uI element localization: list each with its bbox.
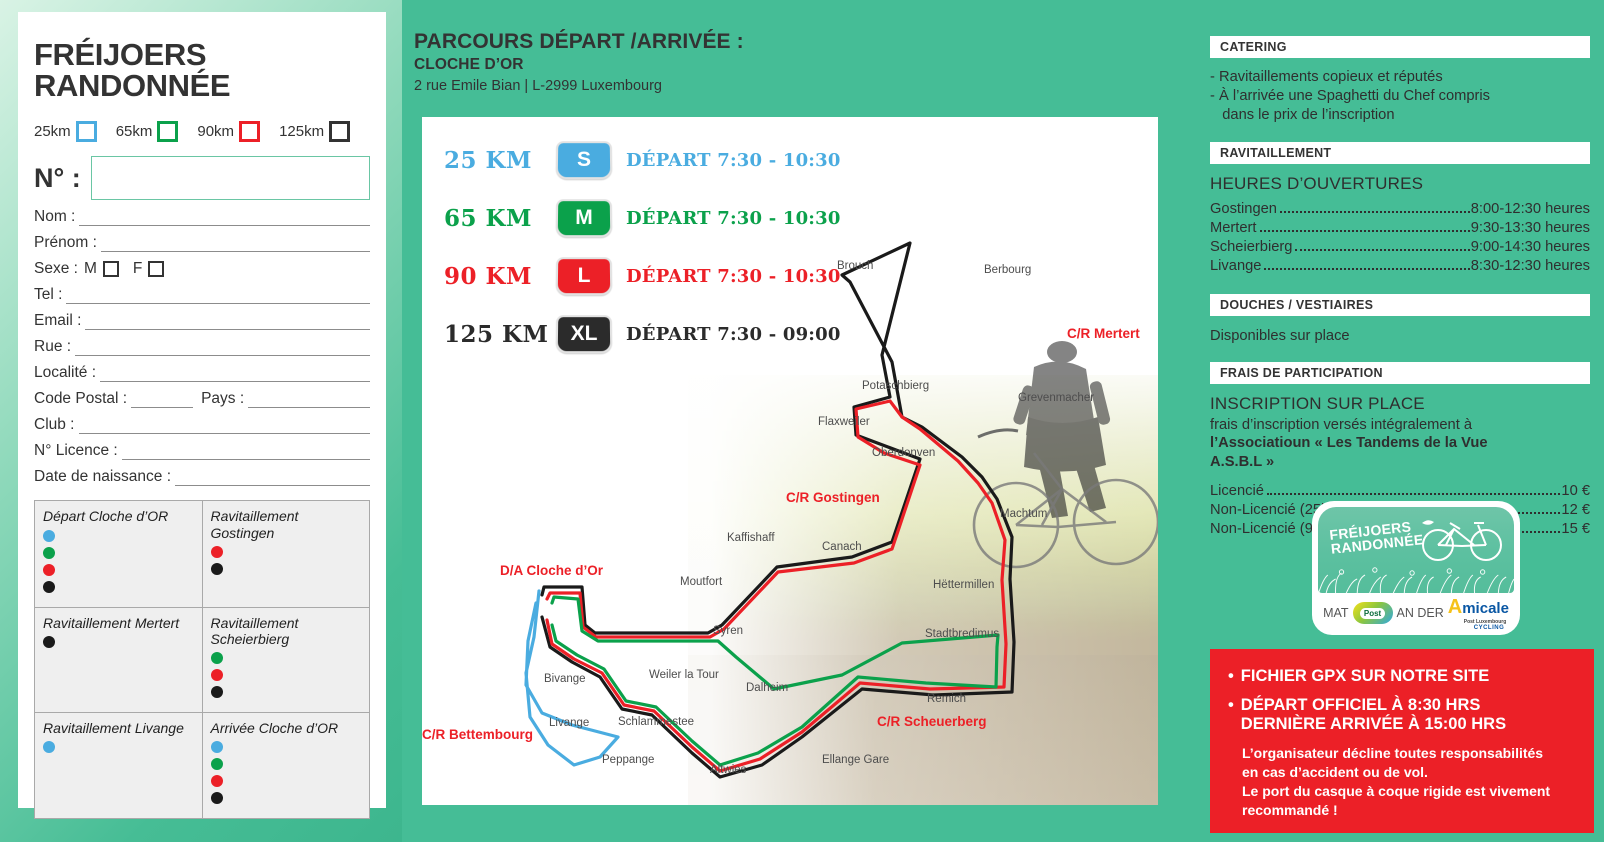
distance-checkbox-90km[interactable] [239,121,260,142]
dot-blue [211,741,223,753]
field-label-club: Club : [34,416,75,434]
field-rule-date-naissance[interactable] [175,472,370,486]
section-heading-ravitaillement: RAVITAILLEMENT [1210,142,1590,164]
field-rule-club[interactable] [79,420,371,434]
event-logo-badge: FRÉIJOERS RANDONNÉE [1312,501,1520,635]
brand-title: FRÉIJOERS RANDONNÉE [34,40,370,101]
legend-badge-l: L [556,257,613,295]
ravitaillement-subheading: HEURES D’OUVERTURES [1200,174,1604,194]
checkpoint-cell-ravitaillement-gostingen: Ravitaillement Gostingen [202,501,370,607]
ravitaillement-hours-scheierbierg: 9:00-14:30 heures [1471,238,1590,257]
catering-item-3: dans le prix de l’inscription [1210,106,1590,125]
field-label-email: Email : [34,312,81,330]
dot-black [211,686,223,698]
distance-checkbox-65km[interactable] [157,121,178,142]
distance-legend: 25 KM S DÉPART 7:30 - 10:30 65 KM M DÉPA… [444,139,841,371]
logo-partners-row: MAT Post AN DER Amicale Post Luxembourg … [1318,593,1514,633]
legend-km-90km: 90 KM [444,263,556,290]
field-rue[interactable]: Rue : [34,338,370,356]
legend-row-25km: 25 KM S DÉPART 7:30 - 10:30 [444,139,841,181]
page-title: PARCOURS DÉPART /ARRIVÉE : [414,30,1200,54]
control-point-label-bettembourg: C/R Bettembourg [422,727,533,742]
checkpoint-title: Ravitaillement Mertert [43,615,194,631]
ravitaillement-hours-list: Gostingen 8:00-12:30 heures Mertert 9:30… [1200,200,1604,275]
distance-option-125km[interactable]: 125km [279,121,350,142]
ravitaillement-name-mertert: Mertert [1210,219,1257,238]
checkpoint-cell-ravitaillement-mertert: Ravitaillement Mertert [35,607,203,712]
list-item: Livange 8:30-12:30 heures [1210,257,1590,276]
checkpoint-title: Ravitaillement Livange [43,720,194,736]
section-heading-catering: CATERING [1210,36,1590,58]
catering-item-2: - À l’arrivée une Spaghetti du Chef comp… [1210,87,1590,106]
leader-dots [1260,230,1470,232]
checkpoint-cell-ravitaillement-scheierbierg: Ravitaillement Scheierbierg [202,607,370,712]
post-logo-text: Post [1360,608,1385,619]
legend-badge-s: S [556,141,613,179]
sexe-label-male: M [84,260,97,278]
place-label-oberdonven: Oberdonven [872,447,935,459]
field-label-pays: Pays : [201,390,244,408]
frais-price-licencie: 10 € [1561,482,1590,501]
field-sexe: Sexe : M F [34,260,370,278]
route-map-card: 25 KM S DÉPART 7:30 - 10:30 65 KM M DÉPA… [422,117,1158,805]
number-row: N° : [34,156,370,200]
place-label-stadtbredimus: Stadtbredimus [925,628,999,640]
field-code-postal-pays[interactable]: Code Postal : Pays : [34,390,370,408]
distance-label-125km: 125km [279,123,324,140]
brand-title-line2: RANDONNÉE [34,71,370,102]
brand-title-line1: FRÉIJOERS [34,40,370,71]
bullet-icon: • [1228,696,1234,734]
list-item: Mertert 9:30-13:30 heures [1210,219,1590,238]
place-label-dalheim: Dalheim [746,682,788,694]
ravitaillement-hours-mertert: 9:30-13:30 heures [1471,219,1590,238]
checkpoint-dots [211,546,362,575]
field-rule-pays[interactable] [248,394,370,408]
frais-price-non-licencie-25-65: 12 € [1561,501,1590,520]
dot-blue [43,741,55,753]
amicale-subtext: Post Luxembourg [1464,619,1509,625]
logo-partner-mat: MAT [1323,606,1348,620]
list-item: Gostingen 8:00-12:30 heures [1210,200,1590,219]
checkpoint-dots [43,530,194,593]
frais-name-licencie: Licencié [1210,482,1264,501]
list-item: Scheierbierg 9:00-14:30 heures [1210,238,1590,257]
registration-panel: FRÉIJOERS RANDONNÉE 25km 65km 90km 125km [0,0,402,842]
checkpoint-dots [43,741,194,753]
field-label-rue: Rue : [34,338,71,356]
field-date-naissance[interactable]: Date de naissance : [34,468,370,486]
number-input[interactable] [91,156,370,200]
disclaimer-line2: en cas d’accident ou de vol. [1242,763,1578,782]
checkpoint-dots [43,636,194,648]
logo-inner-panel: FRÉIJOERS RANDONNÉE [1318,507,1514,593]
route-header: PARCOURS DÉPART /ARRIVÉE : CLOCHE D’OR 2… [402,0,1200,94]
venue-address: 2 rue Emile Bian | L-2999 Luxembourg [414,78,1200,94]
info-bullet-gpx: • FICHIER GPX SUR NOTRE SITE [1228,667,1578,686]
info-bullet-depart-line1: DÉPART OFFICIEL À 8:30 HRS [1241,696,1506,715]
place-label-potaschbierg: Potaschbierg [862,380,929,392]
place-label-berbourg: Berbourg [984,264,1031,276]
field-label-localite: Localité : [34,364,96,382]
place-label-ellange-gare: Ellange Gare [822,754,889,766]
control-point-label-cloche-dor: D/A Cloche d’Or [500,563,603,578]
catering-item-1: - Ravitaillements copieux et réputés [1210,68,1590,87]
table-row: Ravitaillement Livange Arrivée Cloche d’… [35,713,370,819]
legend-time-65km: DÉPART 7:30 - 10:30 [626,208,841,229]
amicale-text: micale [1462,600,1509,617]
frais-note: frais d’inscription versés intégralement… [1200,416,1604,472]
field-prenom[interactable]: Prénom : [34,234,370,252]
legend-km-25km: 25 KM [444,147,556,174]
legend-time-25km: DÉPART 7:30 - 10:30 [626,150,841,171]
checkpoint-title: Départ Cloche d’OR [43,508,194,524]
place-label-canach: Canach [822,541,862,553]
section-heading-douches: DOUCHES / VESTIAIRES [1210,294,1590,316]
place-label-weiler-la-tour: Weiler la Tour [649,669,719,681]
checkpoint-cell-depart-cloche-dor: Départ Cloche d’OR [35,501,203,607]
dot-red [43,564,55,576]
distance-checkbox-125km[interactable] [329,121,350,142]
field-label-prenom: Prénom : [34,234,97,252]
place-label-livange: Livange [549,717,589,729]
place-label-altwies: Altwies [710,764,746,776]
dot-black [43,636,55,648]
checkpoint-title: Ravitaillement Scheierbierg [211,615,362,647]
field-tel[interactable]: Tel : [34,286,370,304]
place-label-bivange: Bivange [544,673,586,685]
field-nom[interactable]: Nom : [34,208,370,226]
place-label-hettermillen: Hëttermillen [933,579,994,591]
disclaimer-note: L’organisateur décline toutes responsabi… [1242,744,1578,819]
sexe-checkbox-female[interactable] [148,261,164,277]
legend-km-65km: 65 KM [444,205,556,232]
place-label-peppange: Peppange [602,754,654,766]
field-label-code-postal: Code Postal : [34,390,127,408]
grass-icon [1318,561,1514,593]
control-point-label-gostingen: C/R Gostingen [786,490,880,505]
legend-time-125km: DÉPART 7:30 - 09:00 [626,324,841,345]
checkpoint-cell-arrivee-cloche-dor: Arrivée Cloche d’OR [202,713,370,819]
field-rule-prenom[interactable] [101,238,370,252]
place-label-schlammestee: Schlammestee [618,716,694,728]
douches-text: Disponibles sur place [1200,327,1604,346]
logo-partner-ander: AN DER [1397,606,1444,620]
place-label-flaxweiler: Flaxweiler [818,416,870,428]
control-point-label-scheuerberg: C/R Scheuerberg [877,714,987,729]
field-rule-code-postal[interactable] [131,394,193,408]
place-label-grevenmacher: Grevenmacher [1018,392,1094,404]
frais-note-line2: l’Associatioun « Les Tandems de la Vue [1210,434,1590,453]
field-localite[interactable]: Localité : [34,364,370,382]
field-rule-tel[interactable] [66,290,370,304]
checkpoint-dots [211,741,362,804]
legend-badge-xl: XL [556,315,613,353]
legend-time-90km: DÉPART 7:30 - 10:30 [626,266,841,287]
table-row: Ravitaillement Mertert Ravitaillement Sc… [35,607,370,712]
legend-km-125km: 125 KM [444,321,556,348]
frais-subheading: INSCRIPTION SUR PLACE [1200,394,1604,414]
field-rule-email[interactable] [85,316,370,330]
checkpoint-dots [211,652,362,698]
info-bullet-depart-line2: DERNIÈRE ARRIVÉE À 15:00 HRS [1241,715,1506,734]
dot-black [211,792,223,804]
field-label-licence: N° Licence : [34,442,118,460]
frais-price-non-licencie-90-125: 15 € [1561,520,1590,539]
dot-black [43,581,55,593]
sexe-checkbox-male[interactable] [103,261,119,277]
field-email[interactable]: Email : [34,312,370,330]
section-heading-frais: FRAIS DE PARTICIPATION [1210,362,1590,384]
field-rule-rue[interactable] [75,342,370,356]
ravitaillement-hours-livange: 8:30-12:30 heures [1471,257,1590,276]
frais-note-line1: frais d’inscription versés intégralement… [1210,416,1590,435]
leader-dots [1280,211,1470,213]
legend-row-65km: 65 KM M DÉPART 7:30 - 10:30 [444,197,841,239]
list-item: Licencié 10 € [1210,482,1590,501]
checkpoint-table: Départ Cloche d’OR Ravitaillement Gostin… [34,500,370,819]
leader-dots [1267,493,1561,495]
bicycle-icon [1416,515,1508,563]
checkpoint-title: Ravitaillement Gostingen [211,508,362,540]
distance-option-25km[interactable]: 25km [34,121,97,142]
route-panel: PARCOURS DÉPART /ARRIVÉE : CLOCHE D’OR 2… [402,0,1200,842]
distance-label-65km: 65km [116,123,153,140]
legend-badge-m: M [556,199,613,237]
distance-label-90km: 90km [197,123,234,140]
field-label-sexe: Sexe : [34,260,78,278]
logo-wordmark: FRÉIJOERS RANDONNÉE [1329,518,1424,556]
post-logo-icon: Post [1353,602,1393,624]
place-label-remich: Remich [927,693,966,705]
info-bullet-gpx-text: FICHIER GPX SUR NOTRE SITE [1241,667,1489,686]
field-licence[interactable]: N° Licence : [34,442,370,460]
leader-dots [1295,249,1469,251]
field-rule-nom[interactable] [79,212,370,226]
leader-dots [1264,268,1469,270]
distance-option-90km[interactable]: 90km [197,121,260,142]
field-label-nom: Nom : [34,208,75,226]
distance-checkbox-25km[interactable] [76,121,97,142]
legend-row-90km: 90 KM L DÉPART 7:30 - 10:30 [444,255,841,297]
dot-black [211,563,223,575]
bullet-icon: • [1228,667,1234,686]
dot-red [211,775,223,787]
page-subtitle: CLOCHE D’OR [414,56,1200,74]
frais-note-line3: A.S.B.L » [1210,453,1590,472]
sexe-label-female: F [133,260,142,278]
dot-red [211,546,223,558]
field-label-date-naissance: Date de naissance : [34,468,171,486]
ravitaillement-name-livange: Livange [1210,257,1261,276]
place-label-moutfort: Moutfort [680,576,722,588]
ravitaillement-name-scheierbierg: Scheierbierg [1210,238,1292,257]
catering-list: - Ravitaillements copieux et réputés - À… [1200,68,1604,124]
dot-green [211,758,223,770]
disclaimer-line1: L’organisateur décline toutes responsabi… [1242,744,1578,763]
checkpoint-title: Arrivée Cloche d’OR [211,720,362,736]
field-label-tel: Tel : [34,286,62,304]
place-label-kaffishaff: Kaffishaff [727,532,775,544]
number-label: N° : [34,163,81,194]
field-club[interactable]: Club : [34,416,370,434]
place-label-brouch: Brouch [837,260,873,272]
dot-blue [43,530,55,542]
control-point-label-mertert: C/R Mertert [1067,326,1140,341]
distance-checkbox-row: 25km 65km 90km 125km [34,121,370,142]
route-65km-line [552,597,998,765]
important-info-box: • FICHIER GPX SUR NOTRE SITE • DÉPART OF… [1210,649,1594,833]
amicale-a-icon: A [1448,596,1462,618]
dot-green [211,652,223,664]
distance-option-65km[interactable]: 65km [116,121,179,142]
table-row: Départ Cloche d’OR Ravitaillement Gostin… [35,501,370,607]
disclaimer-line4: recommandé ! [1242,801,1578,820]
registration-form-card: FRÉIJOERS RANDONNÉE 25km 65km 90km 125km [18,12,386,808]
disclaimer-line3: Le port du casque à coque rigide est viv… [1242,782,1578,801]
checkpoint-cell-ravitaillement-livange: Ravitaillement Livange [35,713,203,819]
distance-label-25km: 25km [34,123,71,140]
info-panel: CATERING - Ravitaillements copieux et ré… [1200,0,1604,842]
dot-green [43,547,55,559]
legend-row-125km: 125 KM XL DÉPART 7:30 - 09:00 [444,313,841,355]
field-rule-localite[interactable] [100,368,370,382]
amicale-logo: Amicale Post Luxembourg CYCLING [1448,596,1509,631]
info-bullet-depart: • DÉPART OFFICIEL À 8:30 HRS DERNIÈRE AR… [1228,696,1578,734]
ravitaillement-name-gostingen: Gostingen [1210,200,1277,219]
place-label-machtum: Machtum [1000,508,1047,520]
field-rule-licence[interactable] [122,446,370,460]
dot-red [211,669,223,681]
ravitaillement-hours-gostingen: 8:00-12:30 heures [1471,200,1590,219]
amicale-cycling-text: CYCLING [1474,625,1509,631]
place-label-syren: Syren [713,625,743,637]
